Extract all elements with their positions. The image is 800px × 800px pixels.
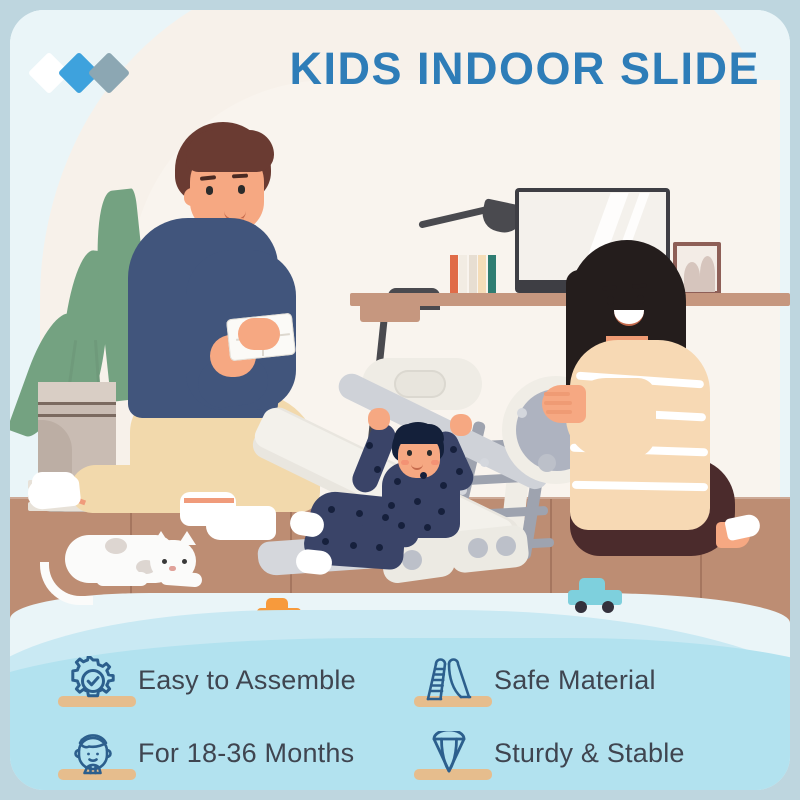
slide-arch-opening	[394, 370, 446, 398]
pajama-dot	[350, 542, 357, 549]
child-eye	[427, 450, 432, 456]
man-hair-fringe	[186, 130, 274, 172]
feature-list: Easy to Assemble	[10, 638, 790, 790]
man-hand-upper	[238, 318, 280, 350]
cat-eye	[182, 559, 187, 564]
teal-toy-car	[568, 578, 622, 614]
pajama-dot	[456, 468, 463, 475]
pajama-dot	[356, 510, 363, 517]
photo-silhouette	[684, 262, 700, 292]
pajama-dot	[328, 506, 335, 513]
plant-pot-rim	[38, 382, 116, 404]
child-cheek	[401, 460, 409, 465]
feature-sturdy-stable[interactable]: Sturdy & Stable	[400, 717, 790, 790]
gear-check-icon	[62, 650, 124, 712]
pajama-dot	[414, 498, 421, 505]
brand-logo[interactable]	[32, 54, 142, 94]
shelf-books	[450, 255, 496, 294]
pajama-dot	[382, 514, 389, 521]
child-eye	[407, 450, 412, 456]
feature-safe-material[interactable]: Safe Material	[400, 644, 790, 717]
slide-rivet	[517, 408, 527, 418]
child-hand-right	[450, 414, 472, 436]
desk-edge	[360, 298, 420, 322]
woman-finger	[546, 410, 572, 414]
man-eyebrow	[232, 174, 248, 179]
plant-pot-band	[38, 402, 116, 405]
photo-silhouette	[700, 256, 715, 292]
pajama-dot	[394, 478, 401, 485]
floor-seam	[550, 499, 552, 607]
pajama-dot	[376, 544, 383, 551]
feature-easy-to-assemble[interactable]: Easy to Assemble	[10, 644, 400, 717]
feature-label: Safe Material	[494, 665, 656, 696]
child-hair-fringe	[394, 424, 444, 444]
feature-label: Sturdy & Stable	[494, 738, 685, 769]
diamond-gem-icon	[418, 723, 480, 785]
car-wheel	[602, 601, 614, 613]
slide-bolt	[496, 536, 516, 556]
man-eye	[206, 186, 213, 195]
cat-paw	[96, 572, 148, 586]
slide-ladder-icon	[418, 650, 480, 712]
car-wheel	[575, 601, 587, 613]
man-foot	[206, 506, 276, 540]
plant-pot-band	[38, 414, 116, 417]
slide-bolt	[468, 538, 488, 558]
pajama-dot	[374, 466, 381, 473]
feature-age-range[interactable]: For 18-36 Months	[10, 717, 400, 790]
book	[488, 255, 496, 294]
slide-rivet	[480, 458, 489, 467]
child-face-icon	[62, 723, 124, 785]
slide-bolt	[538, 454, 556, 472]
book	[459, 255, 467, 294]
man-sock-stripe	[184, 498, 234, 503]
slide-bolt	[402, 550, 422, 570]
diamond-gray-icon	[88, 52, 130, 94]
woman-eye	[607, 296, 614, 305]
pajama-dot	[388, 502, 395, 509]
woman-finger	[544, 392, 570, 396]
slide-foot	[448, 524, 530, 574]
illustration-scene	[10, 10, 790, 630]
man-shoe	[27, 475, 82, 510]
book	[469, 255, 477, 294]
pajama-dot	[398, 522, 405, 529]
pajama-dot	[438, 508, 445, 515]
pajama-dot	[424, 524, 431, 531]
poster-card: KIDS INDOOR SLIDE Easy to Assemble	[10, 10, 790, 790]
woman-eye	[637, 295, 644, 304]
page-title: KIDS INDOOR SLIDE	[289, 43, 760, 95]
feature-label: Easy to Assemble	[138, 665, 356, 696]
pajama-dot	[420, 472, 427, 479]
woman-finger	[544, 401, 572, 405]
man-eye	[238, 185, 245, 194]
child-hand-left	[368, 408, 390, 430]
cat-paw	[160, 571, 203, 588]
child-cheek	[431, 460, 439, 465]
book	[478, 255, 486, 294]
pajama-dot	[450, 446, 457, 453]
product-poster: KIDS INDOOR SLIDE Easy to Assemble	[0, 0, 800, 800]
cat-eye	[162, 559, 167, 564]
pajama-dot	[366, 442, 373, 449]
pajama-dot	[440, 482, 447, 489]
cat-spot	[105, 538, 127, 554]
pajama-dot	[322, 538, 329, 545]
book	[450, 255, 458, 294]
woman-eyebrow	[632, 284, 647, 289]
feature-label: For 18-36 Months	[138, 738, 354, 769]
